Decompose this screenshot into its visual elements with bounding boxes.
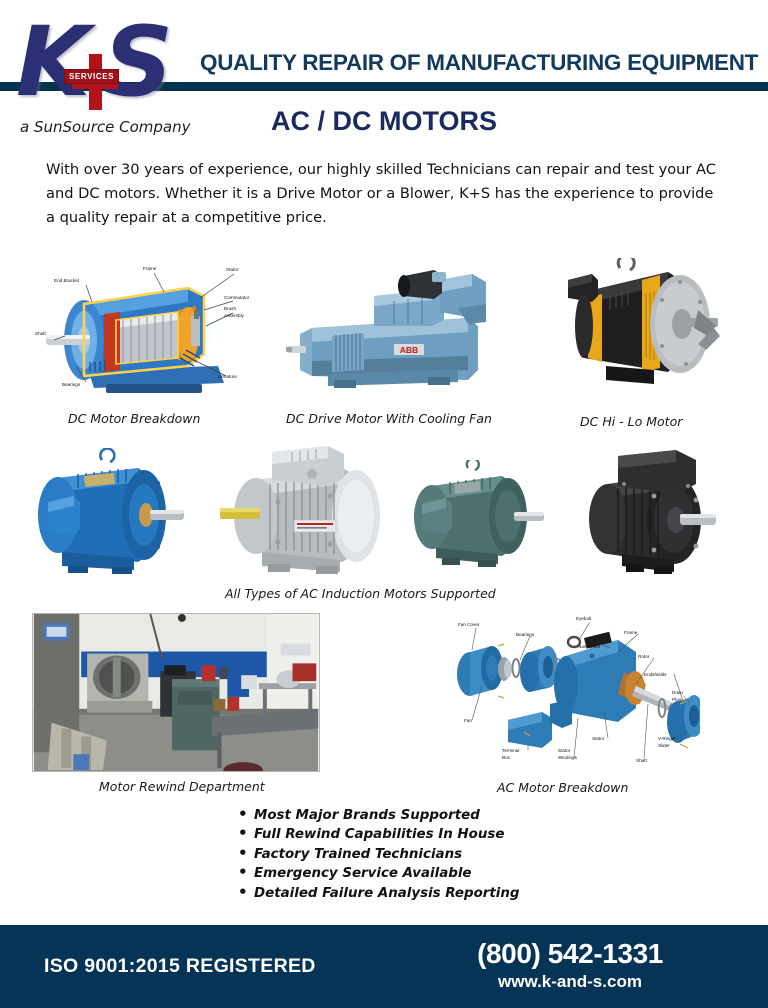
dc-drive-motor-svg: ABB — [282, 266, 494, 394]
iso-certification-text: ISO 9001:2015 REGISTERED — [44, 955, 316, 978]
ac-induction-motor-green-image — [410, 460, 552, 570]
ac-induction-motor-blue-image — [34, 448, 194, 576]
footer-website-link[interactable]: www.k-and-s.com — [400, 972, 740, 992]
caption-dc-hi-lo-motor: DC Hi - Lo Motor — [580, 414, 682, 429]
list-item: Most Major Brands Supported — [238, 806, 568, 825]
ac-induction-motor-black-image — [588, 450, 726, 576]
list-item: Full Rewind Capabilities In House — [238, 825, 568, 844]
silver-induction-motor-svg — [216, 446, 394, 576]
caption-dc-drive-motor: DC Drive Motor With Cooling Fan — [286, 411, 492, 426]
green-induction-motor-svg — [410, 460, 552, 570]
dc-label-stator: Stator — [226, 267, 238, 273]
list-item: Detailed Failure Analysis Reporting — [238, 884, 568, 903]
blue-induction-motor-svg — [34, 448, 194, 576]
dc-label-brush: Brush — [224, 306, 236, 312]
dc-label-armature: Armature — [218, 374, 237, 380]
header-title: QUALITY REPAIR OF MANUFACTURING EQUIPMEN… — [200, 50, 756, 76]
dc-label-end-bracket: End Bracket — [54, 278, 79, 284]
footer-phone-number[interactable]: (800) 542-1331 — [400, 938, 740, 970]
ac-induction-motor-silver-image — [216, 446, 394, 576]
list-item: Emergency Service Available — [238, 864, 568, 883]
flyer-page: K S SERVICES a SunSource Company QUALITY… — [0, 0, 768, 1008]
ac-label-endshields: Endshields — [644, 672, 666, 678]
workshop-photo-svg — [33, 614, 319, 771]
svg-text:ABB: ABB — [400, 345, 418, 355]
list-item: Factory Trained Technicians — [238, 845, 568, 864]
ac-label-v-ringer: V-Ringer — [658, 736, 676, 742]
dc-drive-motor-image: ABB — [282, 266, 494, 394]
ac-label-nameplate: Nameplate — [578, 644, 600, 650]
ac-label-rotor: Rotor — [638, 654, 649, 660]
ac-label-eyebolt: Eyebolt — [576, 616, 591, 622]
ac-label-windings-1: Windings — [558, 755, 577, 761]
ac-label-plugs: Plugs — [672, 697, 684, 703]
dc-label-shaft: Shaft — [35, 331, 46, 337]
ac-label-box: Box — [502, 755, 510, 761]
ac-label-stator: Stator — [592, 736, 604, 742]
ac-label-frame: Frame — [624, 630, 637, 636]
caption-ac-motor-breakdown: AC Motor Breakdown — [497, 780, 628, 795]
ac-motor-breakdown-image: Fan Cover Bearings Eyebolt Nameplate Fra… — [432, 612, 700, 774]
dc-label-frame: Frame — [143, 266, 156, 272]
caption-motor-rewind-department: Motor Rewind Department — [99, 779, 265, 794]
caption-ac-induction-motors: All Types of AC Induction Motors Support… — [225, 586, 496, 601]
dc-label-assembly: Assembly — [224, 313, 244, 319]
dc-label-commutator: Commutator — [224, 295, 249, 301]
dc-hi-lo-motor-image — [558, 258, 730, 392]
ac-label-bearings: Bearings — [516, 632, 534, 638]
logo-services-badge: SERVICES — [64, 69, 119, 84]
ac-label-terminal: Terminal — [502, 748, 519, 754]
ac-label-fan: Fan — [464, 718, 472, 724]
intro-paragraph: With over 30 years of experience, our hi… — [46, 158, 726, 230]
dc-label-bearings: Bearings — [62, 382, 80, 388]
black-induction-motor-svg — [588, 450, 726, 576]
dc-motor-breakdown-image: Frame Stator End Bracket Commutator Brus… — [28, 258, 264, 398]
ac-label-fan-cover: Fan Cover — [458, 622, 479, 628]
ac-label-stator-windings: Stator — [558, 748, 570, 754]
page-header: K S SERVICES a SunSource Company QUALITY… — [0, 0, 768, 150]
dc-hi-lo-motor-svg — [558, 258, 730, 392]
motor-rewind-department-image — [32, 613, 320, 772]
capabilities-list: Most Major Brands Supported Full Rewind … — [238, 806, 568, 903]
ac-label-slider: Slider — [658, 743, 670, 749]
page-title: AC / DC MOTORS — [0, 106, 768, 137]
ac-label-drain: Drain — [672, 690, 683, 696]
ac-label-shaft: Shaft — [636, 758, 647, 764]
caption-dc-motor-breakdown: DC Motor Breakdown — [68, 411, 200, 426]
